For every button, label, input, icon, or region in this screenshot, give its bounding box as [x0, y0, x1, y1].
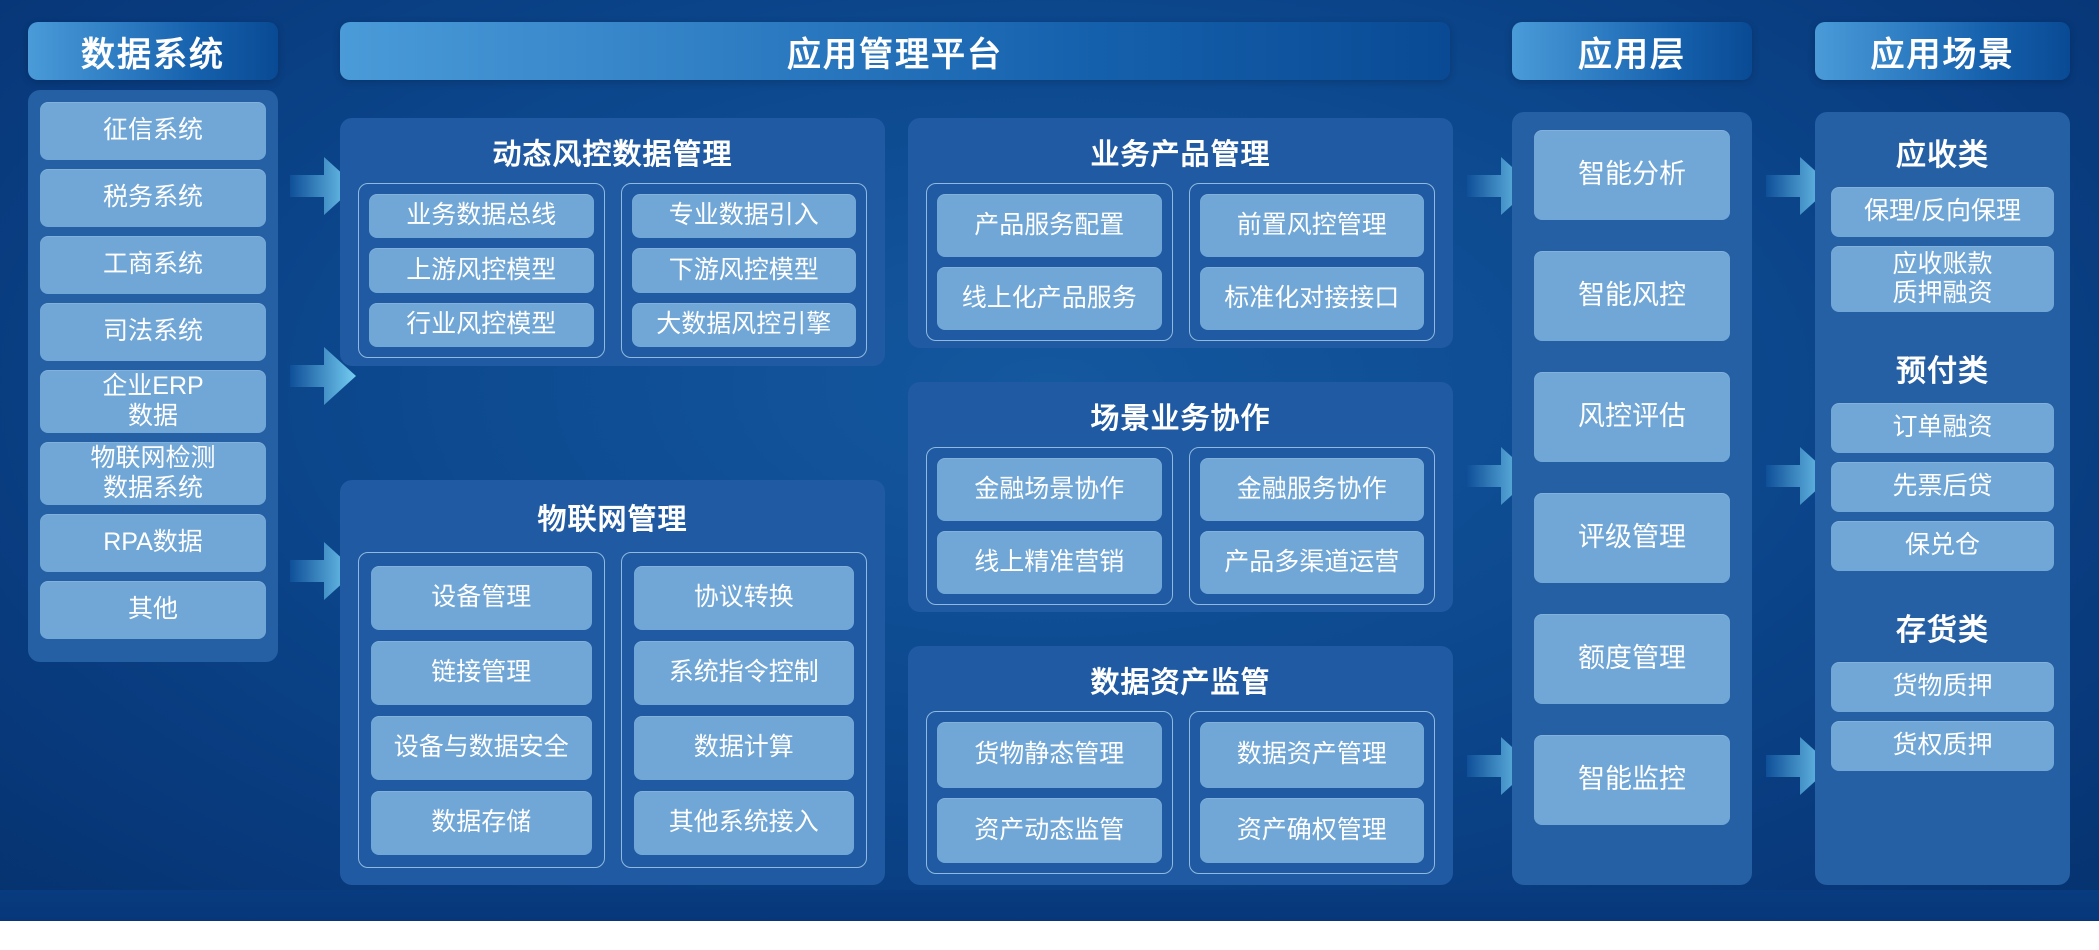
platform-card-0-right-item-0[interactable]: 专业数据引入 [632, 194, 857, 238]
scenario-group-1-item-1[interactable]: 先票后贷 [1831, 462, 2054, 512]
platform-card-2-left-item-0[interactable]: 产品服务配置 [937, 194, 1162, 257]
card-scenario-business-collaboration: 场景业务协作 金融场景协作线上精准营销 金融服务协作产品多渠道运营 [908, 382, 1453, 612]
group-right: 前置风控管理标准化对接接口 [1189, 183, 1436, 341]
platform-card-4-left-item-1[interactable]: 资产动态监管 [937, 798, 1162, 864]
panel-data-system: 征信系统税务系统工商系统司法系统企业ERP 数据物联网检测 数据系统RPA数据其… [28, 90, 278, 662]
platform-card-1-right-item-0[interactable]: 协议转换 [634, 566, 855, 630]
group-right: 协议转换系统指令控制数据计算其他系统接入 [621, 552, 868, 868]
data-system-item-0[interactable]: 征信系统 [40, 102, 266, 160]
card-body: 设备管理链接管理设备与数据安全数据存储 协议转换系统指令控制数据计算其他系统接入 [340, 538, 885, 868]
scenario-group-title-2: 存货类 [1831, 605, 2054, 649]
platform-card-0-left-item-0[interactable]: 业务数据总线 [369, 194, 594, 238]
data-system-item-3[interactable]: 司法系统 [40, 303, 266, 361]
group-left: 产品服务配置线上化产品服务 [926, 183, 1173, 341]
column-header-app-scenario: 应用场景 [1815, 22, 2070, 80]
card-business-product-management: 业务产品管理 产品服务配置线上化产品服务 前置风控管理标准化对接接口 [908, 118, 1453, 348]
app-layer-item-3[interactable]: 评级管理 [1534, 493, 1730, 583]
column-header-data-system: 数据系统 [28, 22, 278, 80]
card-title: 数据资产监管 [908, 659, 1453, 701]
platform-card-0-left-item-2[interactable]: 行业风控模型 [369, 303, 594, 347]
scenario-group-title-0: 应收类 [1831, 130, 2054, 174]
app-layer-item-2[interactable]: 风控评估 [1534, 372, 1730, 462]
group-right: 专业数据引入下游风控模型大数据风控引擎 [621, 183, 868, 358]
platform-card-1-left-item-0[interactable]: 设备管理 [371, 566, 592, 630]
platform-card-1-left-item-1[interactable]: 链接管理 [371, 641, 592, 705]
group-left: 货物静态管理资产动态监管 [926, 711, 1173, 874]
column-header-platform: 应用管理平台 [340, 22, 1450, 80]
data-system-item-4[interactable]: 企业ERP 数据 [40, 370, 266, 433]
platform-card-2-left-item-1[interactable]: 线上化产品服务 [937, 267, 1162, 330]
platform-card-1-left-item-3[interactable]: 数据存储 [371, 791, 592, 855]
platform-card-1-right-item-2[interactable]: 数据计算 [634, 716, 855, 780]
platform-card-1-right-item-3[interactable]: 其他系统接入 [634, 791, 855, 855]
platform-card-0-left-item-1[interactable]: 上游风控模型 [369, 248, 594, 292]
scenario-group-0: 应收类保理/反向保理应收账款 质押融资 [1831, 124, 2054, 312]
platform-card-1-left-item-2[interactable]: 设备与数据安全 [371, 716, 592, 780]
platform-card-3-left-item-0[interactable]: 金融场景协作 [937, 458, 1162, 521]
card-title: 物联网管理 [340, 496, 885, 538]
scenario-group-2: 存货类货物质押货权质押 [1831, 605, 2054, 771]
platform-card-1-right-item-1[interactable]: 系统指令控制 [634, 641, 855, 705]
data-system-item-6[interactable]: RPA数据 [40, 514, 266, 572]
card-title: 场景业务协作 [908, 395, 1453, 437]
app-layer-item-1[interactable]: 智能风控 [1534, 251, 1730, 341]
scenario-group-0-item-0[interactable]: 保理/反向保理 [1831, 187, 2054, 237]
app-layer-item-0[interactable]: 智能分析 [1534, 130, 1730, 220]
data-system-item-1[interactable]: 税务系统 [40, 169, 266, 227]
data-system-item-list: 征信系统税务系统工商系统司法系统企业ERP 数据物联网检测 数据系统RPA数据其… [28, 90, 278, 651]
platform-card-4-right-item-1[interactable]: 资产确权管理 [1200, 798, 1425, 864]
platform-card-3-right-item-1[interactable]: 产品多渠道运营 [1200, 531, 1425, 594]
app-scenario-group-list: 应收类保理/反向保理应收账款 质押融资预付类订单融资先票后贷保兑仓存货类货物质押… [1815, 112, 2070, 783]
app-layer-item-5[interactable]: 智能监控 [1534, 735, 1730, 825]
platform-card-4-left-item-0[interactable]: 货物静态管理 [937, 722, 1162, 788]
scenario-group-2-item-0[interactable]: 货物质押 [1831, 662, 2054, 712]
data-system-item-5[interactable]: 物联网检测 数据系统 [40, 442, 266, 505]
group-right: 金融服务协作产品多渠道运营 [1189, 447, 1436, 605]
card-body: 业务数据总线上游风控模型行业风控模型 专业数据引入下游风控模型大数据风控引擎 [340, 173, 885, 358]
card-data-asset-supervision: 数据资产监管 货物静态管理资产动态监管 数据资产管理资产确权管理 [908, 646, 1453, 885]
card-title: 业务产品管理 [908, 131, 1453, 173]
scenario-group-2-item-1[interactable]: 货权质押 [1831, 721, 2054, 771]
group-left: 金融场景协作线上精准营销 [926, 447, 1173, 605]
platform-card-3-right-item-0[interactable]: 金融服务协作 [1200, 458, 1425, 521]
platform-card-2-right-item-1[interactable]: 标准化对接接口 [1200, 267, 1425, 330]
platform-card-3-left-item-1[interactable]: 线上精准营销 [937, 531, 1162, 594]
platform-card-2-right-item-0[interactable]: 前置风控管理 [1200, 194, 1425, 257]
group-left: 设备管理链接管理设备与数据安全数据存储 [358, 552, 605, 868]
scenario-group-1: 预付类订单融资先票后贷保兑仓 [1831, 346, 2054, 571]
scenario-group-1-item-0[interactable]: 订单融资 [1831, 403, 2054, 453]
card-title: 动态风控数据管理 [340, 131, 885, 173]
group-left: 业务数据总线上游风控模型行业风控模型 [358, 183, 605, 358]
scenario-group-title-1: 预付类 [1831, 346, 2054, 390]
panel-app-layer: 智能分析智能风控风控评估评级管理额度管理智能监控 [1512, 112, 1752, 885]
column-header-app-layer: 应用层 [1512, 22, 1752, 80]
platform-card-0-right-item-2[interactable]: 大数据风控引擎 [632, 303, 857, 347]
bottom-bar [0, 890, 2099, 921]
scenario-group-0-item-1[interactable]: 应收账款 质押融资 [1831, 246, 2054, 312]
card-dynamic-risk-data-management: 动态风控数据管理 业务数据总线上游风控模型行业风控模型 专业数据引入下游风控模型… [340, 118, 885, 366]
architecture-diagram: 数据系统 征信系统税务系统工商系统司法系统企业ERP 数据物联网检测 数据系统R… [0, 0, 2099, 950]
card-body: 货物静态管理资产动态监管 数据资产管理资产确权管理 [908, 701, 1453, 874]
data-system-item-7[interactable]: 其他 [40, 581, 266, 639]
panel-app-scenario: 应收类保理/反向保理应收账款 质押融资预付类订单融资先票后贷保兑仓存货类货物质押… [1815, 112, 2070, 885]
data-system-item-2[interactable]: 工商系统 [40, 236, 266, 294]
card-body: 产品服务配置线上化产品服务 前置风控管理标准化对接接口 [908, 173, 1453, 341]
group-right: 数据资产管理资产确权管理 [1189, 711, 1436, 874]
app-layer-item-list: 智能分析智能风控风控评估评级管理额度管理智能监控 [1512, 112, 1752, 843]
card-iot-management: 物联网管理 设备管理链接管理设备与数据安全数据存储 协议转换系统指令控制数据计算… [340, 480, 885, 885]
scenario-group-1-item-2[interactable]: 保兑仓 [1831, 521, 2054, 571]
platform-card-0-right-item-1[interactable]: 下游风控模型 [632, 248, 857, 292]
card-body: 金融场景协作线上精准营销 金融服务协作产品多渠道运营 [908, 437, 1453, 605]
app-layer-item-4[interactable]: 额度管理 [1534, 614, 1730, 704]
platform-card-4-right-item-0[interactable]: 数据资产管理 [1200, 722, 1425, 788]
